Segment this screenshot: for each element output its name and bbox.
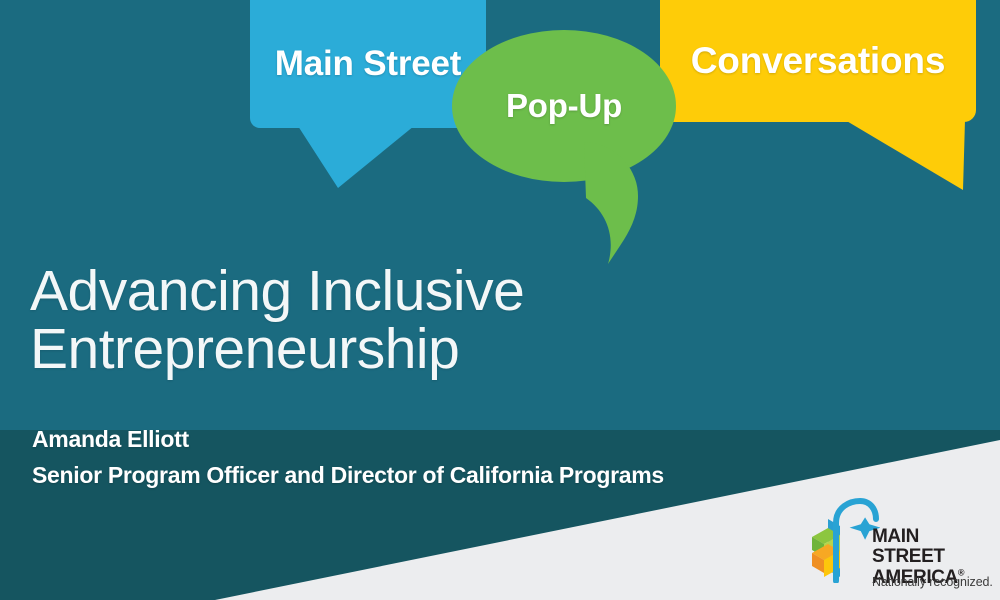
speech-bubble-yellow-label: Conversations [691,40,945,82]
speech-bubble-green-label-wrap: Pop-Up [452,30,676,182]
presenter-name: Amanda Elliott [32,426,189,453]
speech-bubble-main-street: Main Street [250,0,486,128]
speech-bubble-tail-yellow [845,120,965,190]
speech-bubble-blue-label: Main Street [275,44,461,84]
speech-bubble-blue-label-wrap: Main Street [250,0,486,128]
slide-title-line-1: Advancing Inclusive [30,262,670,320]
presenter-role: Senior Program Officer and Director of C… [32,462,664,489]
presentation-slide: Main Street Conversations Pop-Up Advanci… [0,0,1000,600]
slide-title-line-2: Entrepreneurship [30,320,670,378]
speech-bubble-conversations: Conversations [660,0,976,122]
logo-wordmark-line-1: MAIN STREET [872,527,996,568]
logo-tagline: Nationally recognized. [872,575,993,589]
speech-bubble-tail-blue [298,126,414,188]
main-street-america-logo: MAIN STREET AMERICA® Nationally recogniz… [806,495,996,595]
speech-bubble-green-label: Pop-Up [506,87,622,125]
speech-bubble-yellow-label-wrap: Conversations [660,0,976,122]
speech-bubble-pop-up: Pop-Up [452,30,676,182]
lamppost-chevron-icon [806,497,880,583]
slide-title: Advancing Inclusive Entrepreneurship [30,262,670,378]
